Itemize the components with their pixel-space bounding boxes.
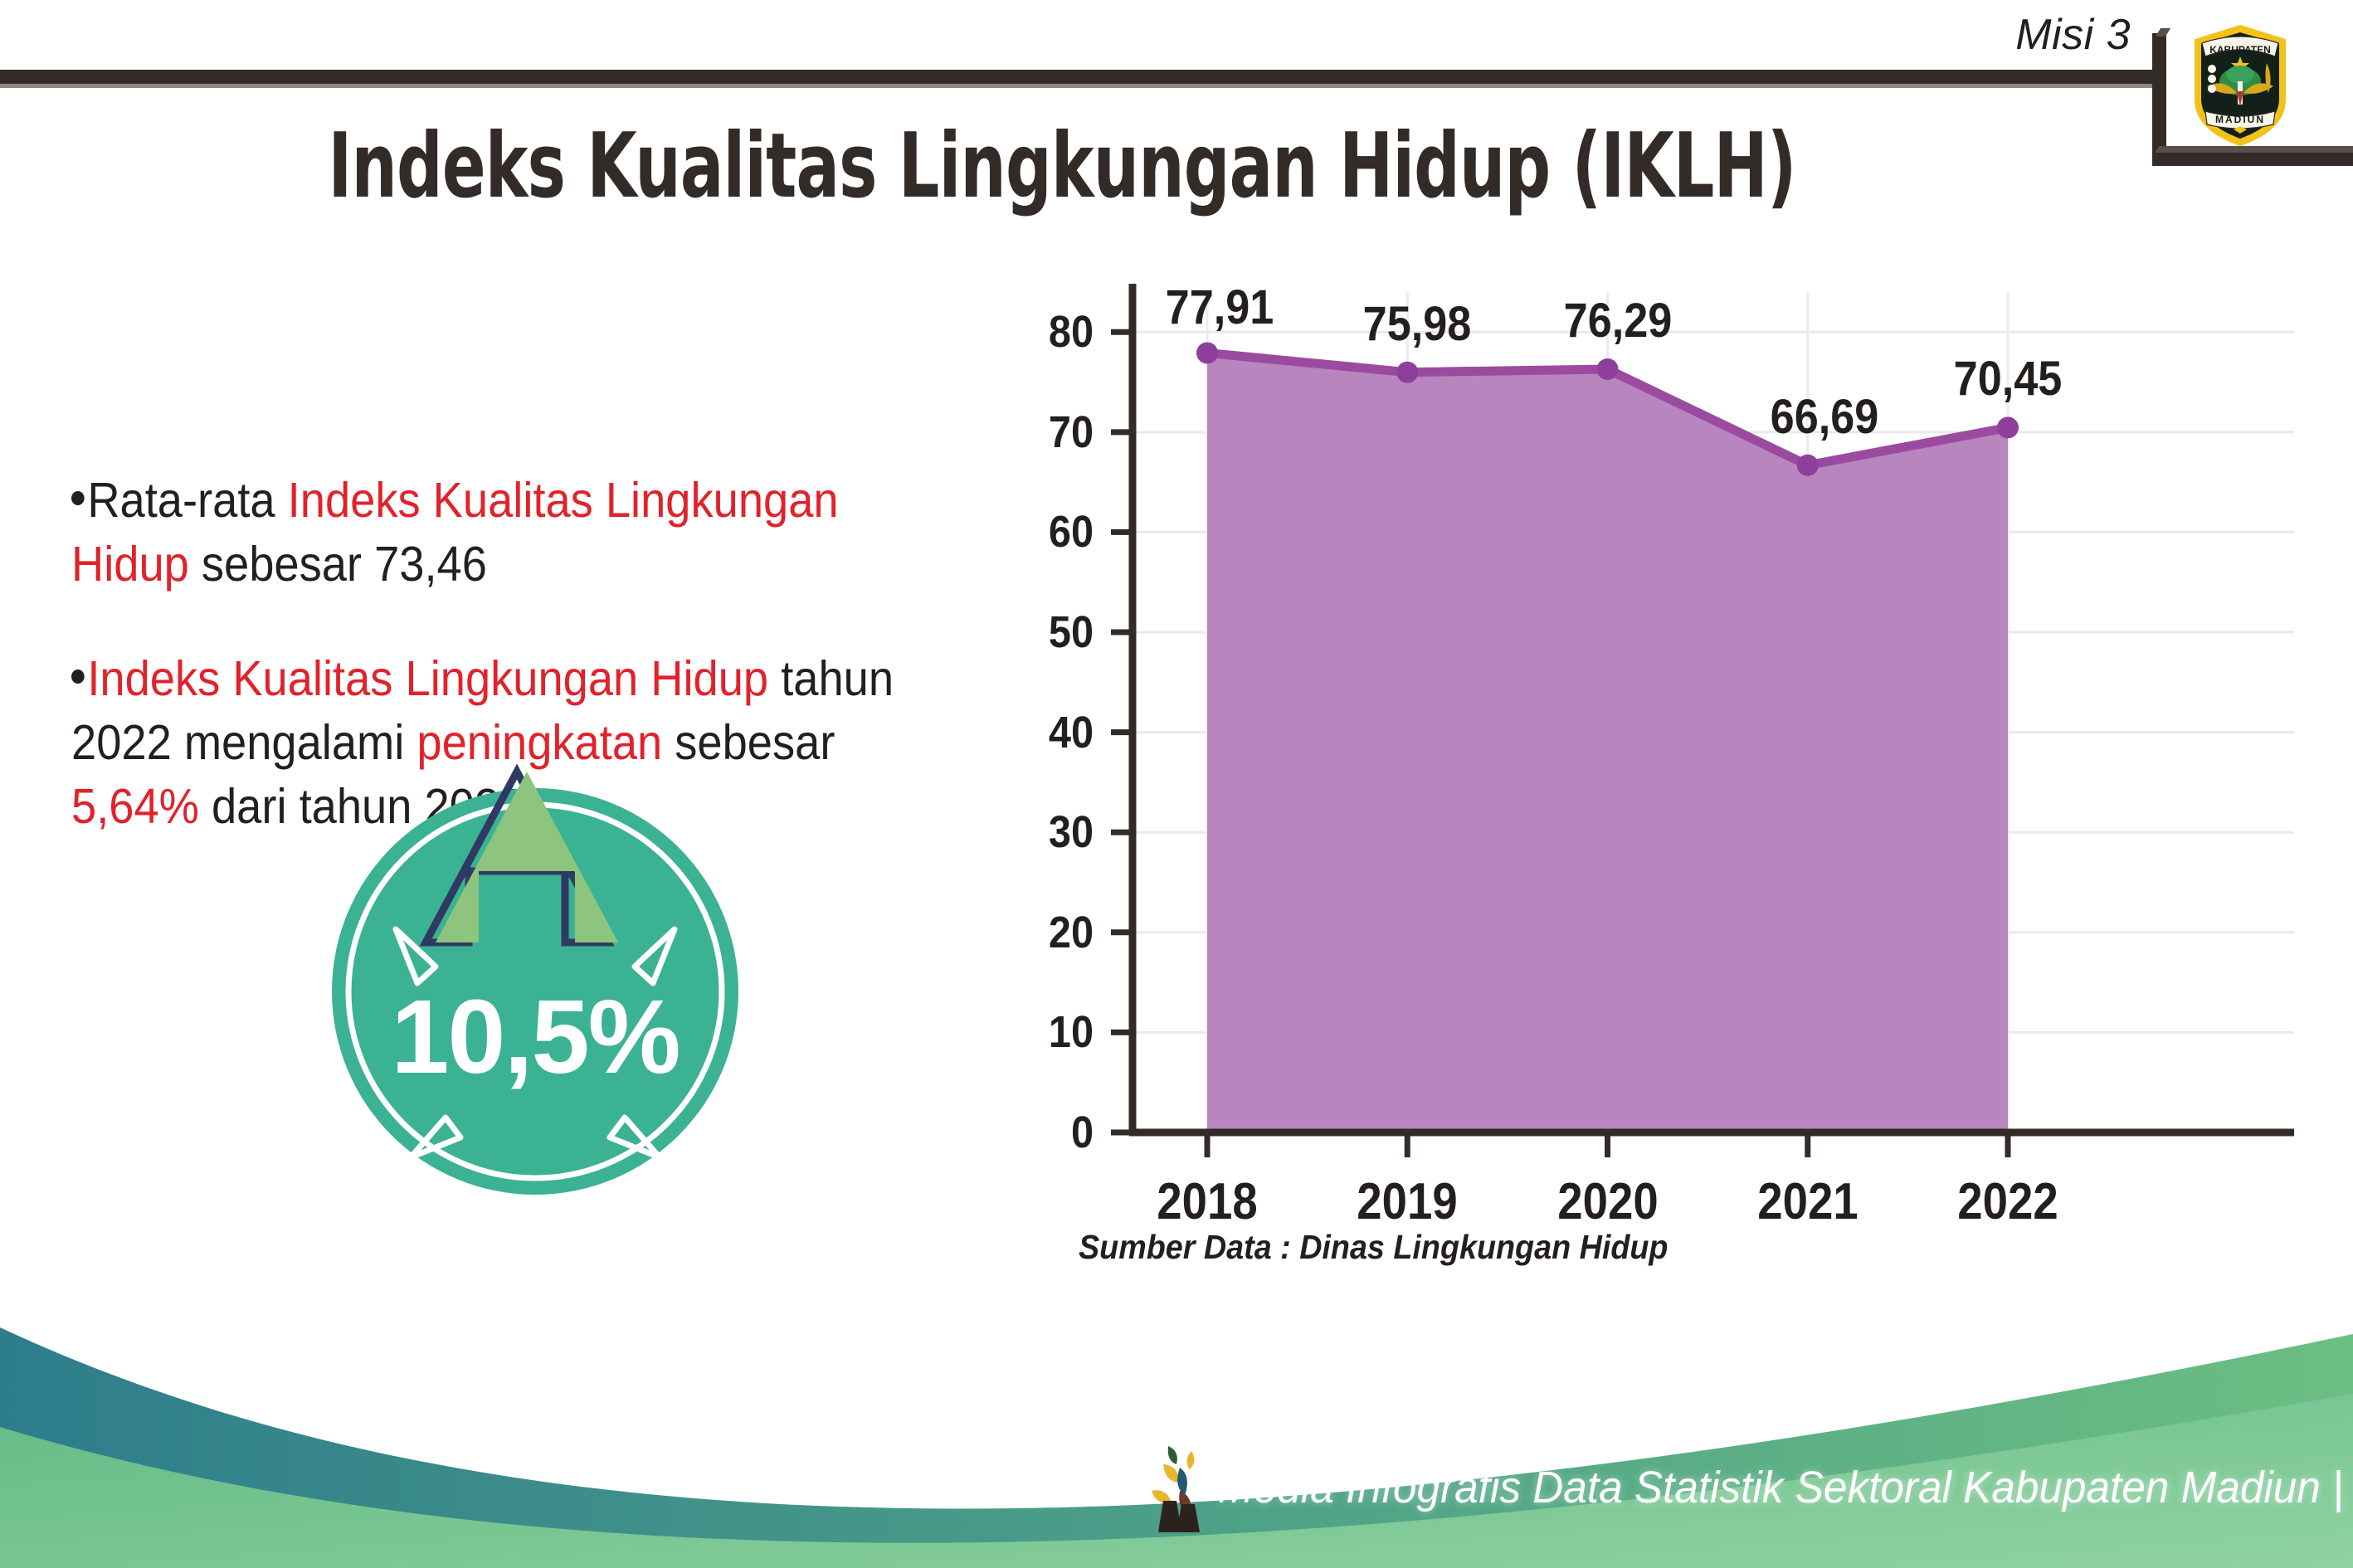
x-axis-tick-label: 2020 [1557,1172,1658,1231]
highlight-text: Indeks Kualitas Lingkungan Hidup [87,651,768,706]
data-point-label: 76,29 [1563,293,1672,348]
y-axis-tick-label: 60 [989,506,1094,558]
emblem-bottom-text: MADIUN [2215,114,2265,125]
source-note: Sumber Data : Dinas Lingkungan Hidup [1079,1228,1668,1267]
iklh-area-chart: 01020304050607080 20182019202020212022 7… [979,274,2307,1203]
bullet-dot-icon [71,491,85,505]
data-point-marker[interactable] [1396,362,1418,383]
y-axis-tick-label: 70 [989,407,1094,458]
increase-badge: 10,5% [328,759,743,1199]
bullet-text: Rata-rata Indeks Kualitas Lingkungan Hid… [71,473,839,592]
data-point-label: 75,98 [1363,296,1472,352]
data-point-marker[interactable] [1797,455,1819,476]
y-axis-tick-label: 30 [989,806,1094,858]
header-divider-rule-shadow [0,84,2165,88]
data-point-label: 66,69 [1770,389,1878,445]
y-axis-tick-label: 50 [989,606,1094,658]
y-axis-tick-label: 0 [989,1107,1094,1158]
footer-caption: Media Infografis Data Statistik Sektoral… [1218,1462,2343,1513]
mission-label: Misi 3 [2015,10,2131,60]
y-axis-tick-label: 20 [989,907,1094,958]
y-axis-tick-label: 80 [989,306,1094,358]
bullet-dot-icon [71,670,85,684]
bullet-item: Rata-rata Indeks Kualitas Lingkungan Hid… [71,469,926,596]
chart-canvas [979,274,2307,1203]
page-title: Indeks Kualitas Lingkungan Hidup (IKLH) [212,114,1912,218]
plain-text: Rata-rata [87,473,287,528]
statistics-figure-logo-icon [1143,1439,1223,1537]
data-point-marker[interactable] [1196,342,1218,363]
emblem-top-text: KABUPATEN [2209,44,2271,56]
header-divider-rule [0,70,2165,84]
data-point-marker[interactable] [1597,358,1619,380]
header-bottom-rule [2152,152,2353,166]
data-point-label: 77,91 [1166,280,1274,335]
x-axis-tick-label: 2019 [1357,1172,1458,1231]
area-fill [1207,353,2008,1132]
y-axis-tick-label: 10 [989,1006,1094,1058]
plain-text: sebesar 73,46 [189,537,487,592]
header-vertical-bar-bevel [2156,28,2170,37]
data-point-label: 70,45 [1954,351,2063,407]
x-axis-tick-label: 2022 [1957,1172,2058,1231]
highlight-text: 5,64% [71,779,199,834]
data-point-marker[interactable] [1997,416,2019,438]
y-axis-tick-label: 40 [989,707,1094,758]
x-axis-tick-label: 2021 [1757,1172,1858,1231]
kabupaten-madiun-emblem-icon: KABUPATEN MADIUN [2187,23,2293,148]
x-axis-tick-label: 2018 [1157,1172,1257,1231]
